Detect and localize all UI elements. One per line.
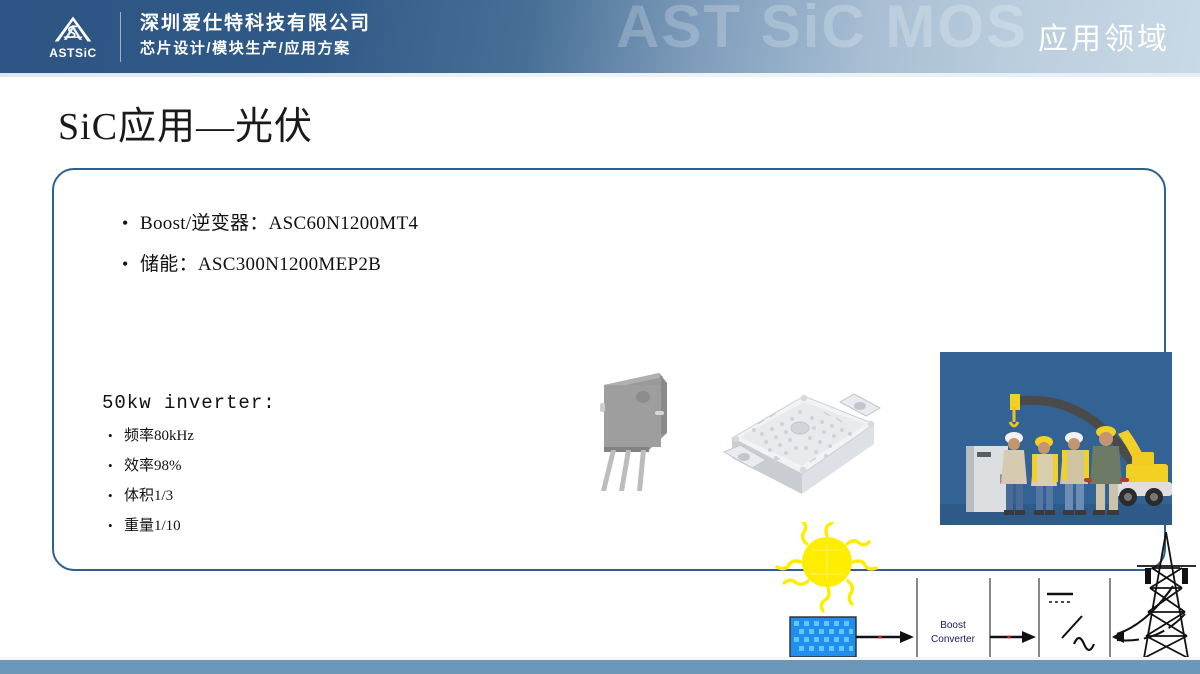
arrow-dcdc-to-dcac — [990, 631, 1036, 643]
application-photo — [940, 352, 1172, 525]
presentation-slide: AST SiC MOS ASTSiC 深圳爱仕特科技有限公司 芯片设计/模块生产… — [0, 0, 1200, 674]
product-bullet-list: • Boost/逆变器：ASC60N1200MT4 • 储能：ASC300N12… — [122, 208, 418, 290]
spec-label: 效率98% — [124, 454, 182, 475]
slide-header: AST SiC MOS ASTSiC 深圳爱仕特科技有限公司 芯片设计/模块生产… — [0, 0, 1200, 73]
list-item: • 储能：ASC300N1200MEP2B — [122, 249, 418, 276]
list-item: • 重量1/10 — [102, 514, 276, 535]
spec-label: 体积1/3 — [124, 484, 173, 505]
header-divider — [120, 12, 121, 62]
bullet-marker: • — [122, 255, 140, 273]
company-info: 深圳爱仕特科技有限公司 芯片设计/模块生产/应用方案 — [140, 11, 371, 61]
spec-heading: 50kw inverter: — [102, 392, 276, 414]
boost-label-line2: Converter — [931, 634, 976, 645]
energy-storage-scene-illustration — [940, 352, 1172, 525]
bullet-marker: • — [108, 518, 124, 534]
list-item: • 效率98% — [102, 454, 276, 475]
list-item: • 体积1/3 — [102, 484, 276, 505]
astsic-logo-icon — [53, 14, 93, 44]
slide-footer — [0, 660, 1200, 674]
spec-label: 重量1/10 — [124, 514, 181, 535]
pv-system-block-diagram: PV PANEL Boost Converter DC/DC — [772, 522, 1200, 674]
header-watermark: AST SiC MOS — [616, 0, 1028, 61]
bullet-label: Boost/逆变器：ASC60N1200MT4 — [140, 208, 418, 235]
boost-label-line1: Boost — [940, 620, 966, 631]
section-title: 应用领域 — [1038, 14, 1170, 58]
company-name: 深圳爱仕特科技有限公司 — [140, 11, 371, 37]
bullet-marker: • — [108, 488, 124, 504]
page-title: SiC应用—光伏 — [58, 95, 313, 150]
bullet-label: 储能：ASC300N1200MEP2B — [140, 249, 381, 276]
bullet-marker: • — [108, 458, 124, 474]
bullet-marker: • — [122, 214, 140, 232]
logo-wordmark: ASTSiC — [49, 46, 97, 60]
sun-icon — [777, 522, 876, 611]
bullet-marker: • — [108, 428, 124, 444]
content-panel: • Boost/逆变器：ASC60N1200MT4 • 储能：ASC300N12… — [52, 168, 1166, 571]
header-underline — [0, 73, 1200, 77]
arrow-pv-to-dcdc — [856, 631, 914, 643]
company-tagline: 芯片设计/模块生产/应用方案 — [140, 37, 371, 61]
to247-package-image — [571, 355, 701, 495]
inverter-spec-list: 50kw inverter: • 频率80kHz • 效率98% • 体积1/3… — [102, 392, 276, 544]
list-item: • 频率80kHz — [102, 424, 276, 445]
company-logo: ASTSiC — [36, 8, 110, 66]
spec-label: 频率80kHz — [124, 424, 194, 445]
sic-module-image — [714, 366, 889, 506]
list-item: • Boost/逆变器：ASC60N1200MT4 — [122, 208, 418, 235]
